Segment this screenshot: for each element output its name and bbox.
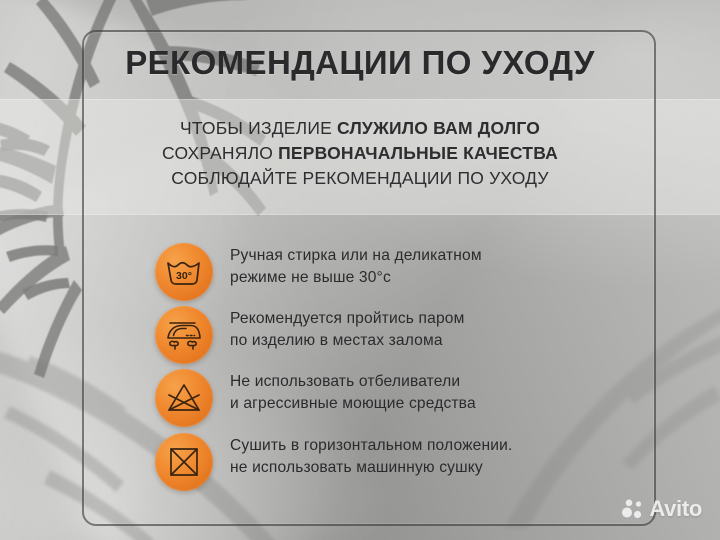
care-list: 30° Ручная стирка или на деликатном режи… bbox=[155, 243, 625, 496]
care-item: Сушить в горизонтальном положении. не ис… bbox=[155, 433, 625, 496]
care-item-line-1: Не использовать отбеливатели bbox=[230, 371, 476, 393]
hand-wash-temp-label: 30° bbox=[176, 270, 192, 282]
care-item-line-1: Сушить в горизонтальном положении. bbox=[230, 435, 512, 457]
hand-wash-30-icon: 30° bbox=[155, 243, 213, 301]
avito-dots-icon bbox=[622, 498, 644, 520]
subtitle-line-2-bold: ПЕРВОНАЧАЛЬНЫЕ КАЧЕСТВА bbox=[278, 143, 558, 163]
care-item-line-2: режиме не выше 30°с bbox=[230, 267, 482, 289]
subtitle-block: ЧТОБЫ ИЗДЕЛИЕ СЛУЖИЛО ВАМ ДОЛГО СОХРАНЯЛ… bbox=[0, 116, 720, 191]
care-item-text: Рекомендуется пройтись паром по изделию … bbox=[230, 308, 464, 352]
care-item-line-1: Рекомендуется пройтись паром bbox=[230, 308, 464, 330]
care-item-line-2: по изделию в местах залома bbox=[230, 330, 464, 352]
care-item-text: Сушить в горизонтальном положении. не ис… bbox=[230, 435, 512, 479]
subtitle-line-1-bold: СЛУЖИЛО ВАМ ДОЛГО bbox=[337, 118, 540, 138]
care-instructions-card: РЕКОМЕНДАЦИИ ПО УХОДУ ЧТОБЫ ИЗДЕЛИЕ СЛУЖ… bbox=[0, 0, 720, 540]
care-item-text: Не использовать отбеливатели и агрессивн… bbox=[230, 371, 476, 415]
subtitle-line-2: СОХРАНЯЛО ПЕРВОНАЧАЛЬНЫЕ КАЧЕСТВА bbox=[0, 141, 720, 166]
do-not-tumble-dry-icon bbox=[155, 433, 213, 491]
do-not-bleach-icon bbox=[155, 369, 213, 427]
care-item: 30° Ручная стирка или на деликатном режи… bbox=[155, 243, 625, 306]
subtitle-line-1: ЧТОБЫ ИЗДЕЛИЕ СЛУЖИЛО ВАМ ДОЛГО bbox=[0, 116, 720, 141]
subtitle-line-1-plain: ЧТОБЫ ИЗДЕЛИЕ bbox=[180, 118, 337, 138]
care-item-text: Ручная стирка или на деликатном режиме н… bbox=[230, 245, 482, 289]
page-title: РЕКОМЕНДАЦИИ ПО УХОДУ bbox=[0, 44, 720, 82]
care-item-line-2: и агрессивные моющие средства bbox=[230, 393, 476, 415]
care-item-line-2: не использовать машинную сушку bbox=[230, 457, 512, 479]
care-item-line-1: Ручная стирка или на деликатном bbox=[230, 245, 482, 267]
subtitle-line-2-plain: СОХРАНЯЛО bbox=[162, 143, 278, 163]
subtitle-line-3: СОБЛЮДАЙТЕ РЕКОМЕНДАЦИИ ПО УХОДУ bbox=[0, 166, 720, 191]
care-item: Рекомендуется пройтись паром по изделию … bbox=[155, 306, 625, 369]
steam-iron-icon bbox=[155, 306, 213, 364]
avito-wordmark: Avito bbox=[649, 496, 702, 522]
care-item: Не использовать отбеливатели и агрессивн… bbox=[155, 369, 625, 433]
avito-watermark: Avito bbox=[622, 496, 702, 522]
